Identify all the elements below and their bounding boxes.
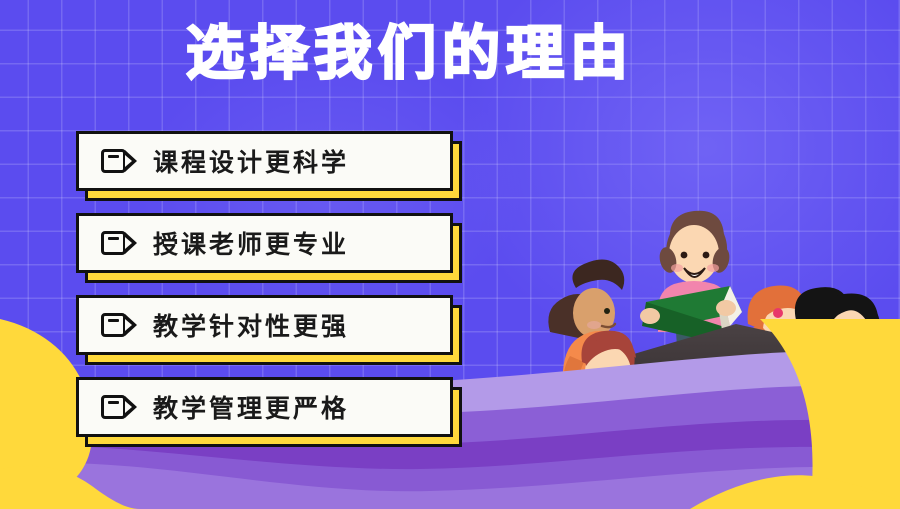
feature-item-1[interactable]: 课程设计更科学 bbox=[76, 131, 453, 191]
feature-item-3[interactable]: 教学针对性更强 bbox=[76, 295, 453, 355]
video-camera-icon bbox=[101, 393, 137, 421]
video-camera-icon bbox=[101, 147, 137, 175]
poster-canvas: 选择我们的理由 课程设计更科学 授课老师更专业 bbox=[0, 0, 900, 509]
feature-item-4[interactable]: 教学管理更严格 bbox=[76, 377, 453, 437]
feature-list: 课程设计更科学 授课老师更专业 教学针对性更强 bbox=[76, 131, 453, 459]
feature-label: 教学针对性更强 bbox=[153, 307, 349, 343]
feature-label: 授课老师更专业 bbox=[153, 225, 349, 261]
feature-label: 教学管理更严格 bbox=[153, 389, 349, 425]
video-camera-icon bbox=[101, 311, 137, 339]
feature-card[interactable]: 教学管理更严格 bbox=[76, 377, 453, 437]
feature-card[interactable]: 课程设计更科学 bbox=[76, 131, 453, 191]
feature-label: 课程设计更科学 bbox=[153, 143, 349, 179]
feature-card[interactable]: 教学针对性更强 bbox=[76, 295, 453, 355]
page-title: 选择我们的理由 bbox=[0, 20, 820, 86]
video-camera-icon bbox=[101, 229, 137, 257]
feature-card[interactable]: 授课老师更专业 bbox=[76, 213, 453, 273]
feature-item-2[interactable]: 授课老师更专业 bbox=[76, 213, 453, 273]
